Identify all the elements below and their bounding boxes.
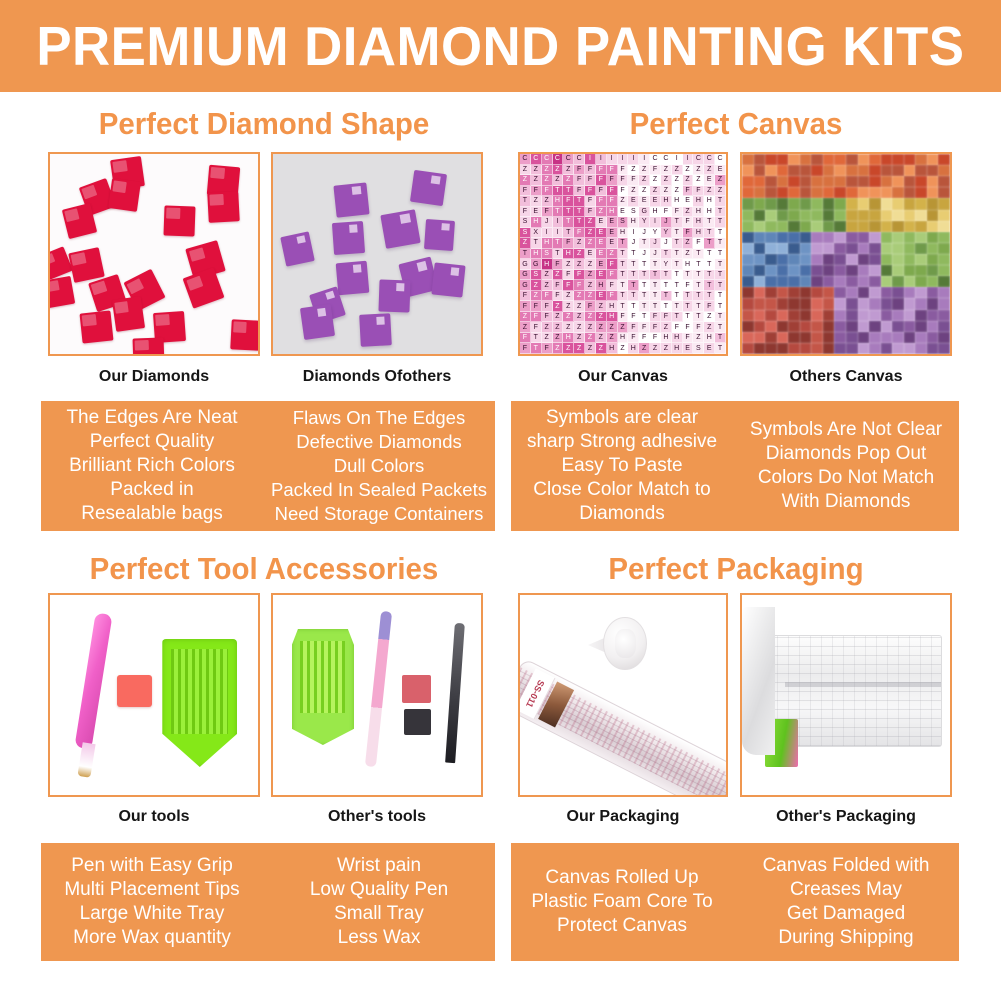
canvas-symbol-cell: S bbox=[542, 249, 553, 260]
canvas-symbol-cell: Z bbox=[574, 291, 585, 302]
canvas-symbol-cell: T bbox=[574, 196, 585, 207]
canvas-symbol-cell: T bbox=[715, 259, 726, 270]
mosaic-cell bbox=[904, 254, 916, 265]
canvas-symbol-cell: T bbox=[574, 217, 585, 228]
our-tools-photo bbox=[48, 593, 260, 797]
canvas-symbol-cell: T bbox=[563, 186, 574, 197]
canvas-symbol-cell: Z bbox=[607, 333, 618, 344]
panel-line: During Shipping bbox=[778, 926, 913, 950]
mosaic-cell bbox=[892, 310, 904, 321]
mosaic-cell bbox=[846, 254, 858, 265]
canvas-symbol-cell: H bbox=[693, 196, 704, 207]
canvas-symbol-cell: E bbox=[683, 343, 694, 354]
mosaic-cell bbox=[800, 232, 812, 243]
mosaic-cell bbox=[904, 265, 916, 276]
canvas-symbol-cell: Z bbox=[661, 322, 672, 333]
canvas-symbol-cell: S bbox=[520, 217, 531, 228]
mosaic-cell bbox=[754, 221, 766, 232]
mosaic-cell bbox=[869, 165, 881, 176]
caption-others-canvas: Others Canvas bbox=[740, 368, 952, 386]
canvas-symbol-cell: E bbox=[596, 228, 607, 239]
mosaic-cell bbox=[915, 287, 927, 298]
mosaic-cell bbox=[742, 165, 754, 176]
canvas-symbol-cell: T bbox=[639, 312, 650, 323]
mosaic-cell bbox=[858, 187, 870, 198]
panel-other-packaging: Canvas Folded with Creases May Get Damag… bbox=[733, 843, 959, 961]
canvas-symbol-cell: F bbox=[531, 312, 542, 323]
mosaic-cell bbox=[869, 254, 881, 265]
canvas-symbol-cell: T bbox=[672, 238, 683, 249]
canvas-symbol-cell: I bbox=[596, 154, 607, 165]
panel-our-tools: Pen with Easy Grip Multi Placement Tips … bbox=[41, 843, 263, 961]
canvas-symbol-cell: H bbox=[628, 217, 639, 228]
panel-line: Dull Colors bbox=[334, 454, 424, 478]
canvas-symbol-cell: T bbox=[520, 196, 531, 207]
canvas-symbol-cell: H bbox=[672, 343, 683, 354]
canvas-symbol-cell: H bbox=[693, 217, 704, 228]
mosaic-cell bbox=[881, 210, 893, 221]
dark-wax-icon bbox=[404, 709, 431, 735]
panel-line: Close Color Match to bbox=[533, 478, 710, 502]
canvas-symbol-cell: Z bbox=[542, 196, 553, 207]
canvas-symbol-cell: H bbox=[542, 238, 553, 249]
mosaic-cell bbox=[742, 298, 754, 309]
mosaic-cell bbox=[754, 187, 766, 198]
canvas-symbol-cell: T bbox=[672, 228, 683, 239]
mosaic-cell bbox=[881, 276, 893, 287]
canvas-symbol-cell: T bbox=[563, 217, 574, 228]
page-title: PREMIUM DIAMOND PAINTING KITS bbox=[36, 14, 964, 78]
mosaic-cell bbox=[742, 321, 754, 332]
canvas-symbol-cell: F bbox=[639, 333, 650, 344]
canvas-symbol-cell: T bbox=[715, 207, 726, 218]
mosaic-cell bbox=[892, 287, 904, 298]
mosaic-cell bbox=[777, 343, 789, 354]
mosaic-cell bbox=[765, 221, 777, 232]
mosaic-cell bbox=[834, 232, 846, 243]
mosaic-cell bbox=[846, 321, 858, 332]
mosaic-cell bbox=[834, 321, 846, 332]
canvas-symbol-cell: T bbox=[693, 280, 704, 291]
mosaic-cell bbox=[904, 298, 916, 309]
mosaic-cell bbox=[777, 310, 789, 321]
mosaic-cell bbox=[881, 232, 893, 243]
canvas-symbol-cell: F bbox=[596, 196, 607, 207]
canvas-symbol-cell: F bbox=[520, 301, 531, 312]
canvas-symbol-cell: F bbox=[596, 165, 607, 176]
mosaic-cell bbox=[811, 232, 823, 243]
mosaic-cell bbox=[754, 265, 766, 276]
canvas-symbol-cell: Z bbox=[574, 333, 585, 344]
mosaic-cell bbox=[869, 232, 881, 243]
canvas-symbol-cell: T bbox=[563, 207, 574, 218]
canvas-symbol-cell: Z bbox=[585, 343, 596, 354]
canvas-symbol-cell: T bbox=[672, 291, 683, 302]
mosaic-cell bbox=[869, 198, 881, 209]
canvas-symbol-cell: F bbox=[574, 280, 585, 291]
mosaic-cell bbox=[915, 210, 927, 221]
canvas-symbol-cell: F bbox=[563, 196, 574, 207]
mosaic-cell bbox=[858, 165, 870, 176]
canvas-symbol-cell: T bbox=[704, 291, 715, 302]
section-title-diamond-shape: Perfect Diamond Shape bbox=[55, 106, 473, 142]
canvas-symbol-cell: Z bbox=[542, 270, 553, 281]
canvas-symbol-cell: E bbox=[596, 270, 607, 281]
canvas-symbol-cell: F bbox=[618, 186, 629, 197]
canvas-symbol-cell: F bbox=[520, 207, 531, 218]
mosaic-cell bbox=[858, 310, 870, 321]
mosaic-cell bbox=[858, 254, 870, 265]
canvas-symbol-cell: F bbox=[563, 270, 574, 281]
canvas-symbol-cell: T bbox=[704, 228, 715, 239]
mosaic-cell bbox=[788, 343, 800, 354]
mosaic-cell bbox=[869, 287, 881, 298]
mosaic-cell bbox=[927, 154, 939, 165]
symbol-grid-art: CCCCCCIIIIIICCIICCCZZZZZFFFFFZZFZZZZZEZZ… bbox=[520, 154, 726, 354]
canvas-symbol-cell: Z bbox=[574, 238, 585, 249]
canvas-symbol-cell: T bbox=[628, 301, 639, 312]
panel-line: With Diamonds bbox=[782, 490, 911, 514]
mosaic-cell bbox=[904, 165, 916, 176]
canvas-symbol-cell: F bbox=[542, 186, 553, 197]
mosaic-cell bbox=[742, 221, 754, 232]
mosaic-cell bbox=[811, 343, 823, 354]
section-title-tool-accessories: Perfect Tool Accessories bbox=[55, 551, 473, 587]
canvas-symbol-cell: F bbox=[596, 186, 607, 197]
canvas-symbol-cell: H bbox=[661, 196, 672, 207]
canvas-symbol-cell: T bbox=[704, 270, 715, 281]
canvas-symbol-cell: G bbox=[639, 207, 650, 218]
mosaic-cell bbox=[788, 287, 800, 298]
mosaic-cell bbox=[846, 232, 858, 243]
canvas-symbol-cell: F bbox=[553, 259, 564, 270]
canvas-symbol-cell: F bbox=[683, 280, 694, 291]
canvas-symbol-cell: E bbox=[628, 196, 639, 207]
panel-line: Pen with Easy Grip bbox=[71, 854, 233, 878]
canvas-symbol-cell: T bbox=[693, 270, 704, 281]
canvas-symbol-cell: Z bbox=[628, 165, 639, 176]
canvas-symbol-cell: T bbox=[715, 343, 726, 354]
canvas-symbol-cell: Z bbox=[531, 280, 542, 291]
panel-line: Small Tray bbox=[334, 902, 424, 926]
mosaic-cell bbox=[892, 198, 904, 209]
mosaic-cell bbox=[938, 265, 950, 276]
canvas-symbol-cell: E bbox=[607, 228, 618, 239]
mosaic-cell bbox=[800, 243, 812, 254]
canvas-symbol-cell: Z bbox=[520, 165, 531, 176]
mosaic-cell bbox=[858, 287, 870, 298]
mosaic-cell bbox=[788, 210, 800, 221]
mosaic-cell bbox=[927, 343, 939, 354]
mosaic-cell bbox=[869, 265, 881, 276]
canvas-symbol-cell: T bbox=[704, 238, 715, 249]
mosaic-cell bbox=[777, 198, 789, 209]
mosaic-cell bbox=[742, 310, 754, 321]
mosaic-cell bbox=[811, 243, 823, 254]
panel-other-tools: Wrist pain Low Quality Pen Small Tray Le… bbox=[263, 843, 495, 961]
mosaic-cell bbox=[754, 310, 766, 321]
mosaic-cell bbox=[892, 165, 904, 176]
mosaic-cell bbox=[834, 276, 846, 287]
mosaic-cell bbox=[811, 276, 823, 287]
canvas-symbol-cell: Z bbox=[585, 217, 596, 228]
others-canvas-mosaic-art bbox=[742, 154, 950, 354]
mosaic-cell bbox=[788, 321, 800, 332]
mosaic-cell bbox=[846, 332, 858, 343]
mosaic-cell bbox=[765, 321, 777, 332]
canvas-symbol-cell: G bbox=[520, 270, 531, 281]
mosaic-cell bbox=[915, 154, 927, 165]
canvas-symbol-cell: E bbox=[596, 249, 607, 260]
mosaic-cell bbox=[904, 321, 916, 332]
canvas-symbol-cell: J bbox=[628, 238, 639, 249]
canvas-symbol-cell: F bbox=[574, 270, 585, 281]
canvas-symbol-cell: T bbox=[553, 186, 564, 197]
mosaic-cell bbox=[834, 210, 846, 221]
canvas-symbol-cell: F bbox=[563, 238, 574, 249]
panel-our-diamonds: The Edges Are Neat Perfect Quality Brill… bbox=[41, 401, 263, 531]
canvas-symbol-cell: Z bbox=[520, 238, 531, 249]
mosaic-cell bbox=[765, 232, 777, 243]
canvas-symbol-cell: T bbox=[639, 270, 650, 281]
canvas-symbol-cell: Z bbox=[596, 301, 607, 312]
mosaic-cell bbox=[834, 198, 846, 209]
mosaic-cell bbox=[904, 221, 916, 232]
mosaic-cell bbox=[742, 287, 754, 298]
canvas-symbol-cell: Z bbox=[531, 196, 542, 207]
mosaic-cell bbox=[788, 310, 800, 321]
canvas-symbol-cell: Z bbox=[704, 322, 715, 333]
panel-line: Flaws On The Edges bbox=[293, 406, 465, 430]
panel-line: Colors Do Not Match bbox=[758, 466, 934, 490]
mosaic-cell bbox=[904, 276, 916, 287]
mosaic-cell bbox=[915, 321, 927, 332]
mosaic-cell bbox=[823, 343, 835, 354]
canvas-symbol-cell: T bbox=[715, 333, 726, 344]
wax-square-icon bbox=[117, 675, 152, 707]
canvas-symbol-cell: I bbox=[639, 154, 650, 165]
canvas-symbol-cell: Z bbox=[585, 291, 596, 302]
canvas-symbol-cell: T bbox=[704, 249, 715, 260]
canvas-symbol-cell: I bbox=[607, 154, 618, 165]
mosaic-cell bbox=[869, 298, 881, 309]
canvas-symbol-cell: F bbox=[607, 196, 618, 207]
mosaic-cell bbox=[765, 287, 777, 298]
canvas-symbol-cell: T bbox=[672, 249, 683, 260]
canvas-symbol-cell: E bbox=[596, 291, 607, 302]
mosaic-cell bbox=[834, 176, 846, 187]
mosaic-cell bbox=[927, 165, 939, 176]
mosaic-cell bbox=[788, 298, 800, 309]
canvas-symbol-cell: T bbox=[531, 343, 542, 354]
canvas-symbol-cell: Z bbox=[683, 165, 694, 176]
canvas-symbol-cell: F bbox=[618, 165, 629, 176]
canvas-symbol-cell: Z bbox=[553, 322, 564, 333]
mosaic-cell bbox=[904, 243, 916, 254]
mosaic-cell bbox=[858, 298, 870, 309]
canvas-symbol-cell: Z bbox=[585, 280, 596, 291]
canvas-symbol-cell: S bbox=[520, 228, 531, 239]
mosaic-cell bbox=[823, 332, 835, 343]
mosaic-cell bbox=[742, 198, 754, 209]
canvas-symbol-cell: X bbox=[531, 228, 542, 239]
panel-line: Perfect Quality bbox=[90, 430, 215, 454]
mosaic-cell bbox=[938, 343, 950, 354]
canvas-symbol-cell: S bbox=[628, 207, 639, 218]
canvas-symbol-cell: T bbox=[683, 291, 694, 302]
mosaic-cell bbox=[881, 154, 893, 165]
mosaic-cell bbox=[788, 198, 800, 209]
mosaic-cell bbox=[811, 321, 823, 332]
mosaic-cell bbox=[742, 176, 754, 187]
canvas-symbol-cell: H bbox=[672, 196, 683, 207]
red-diamonds-photo bbox=[48, 152, 260, 356]
canvas-symbol-cell: F bbox=[672, 322, 683, 333]
mosaic-cell bbox=[834, 310, 846, 321]
mosaic-cell bbox=[892, 232, 904, 243]
canvas-symbol-cell: T bbox=[704, 280, 715, 291]
canvas-symbol-cell: C bbox=[574, 154, 585, 165]
canvas-symbol-cell: Z bbox=[531, 165, 542, 176]
mosaic-cell bbox=[915, 243, 927, 254]
panel-line: Packed In Sealed Packets bbox=[271, 478, 487, 502]
panel-line: Need Storage Containers bbox=[275, 502, 484, 526]
canvas-symbol-cell: F bbox=[585, 196, 596, 207]
symbol-canvas-photo: CCCCCCIIIIIICCIICCCZZZZZFFFFFZZFZZZZZEZZ… bbox=[518, 152, 728, 356]
canvas-symbol-cell: Z bbox=[585, 312, 596, 323]
panel-line: Creases May bbox=[790, 878, 902, 902]
section-title-packaging: Perfect Packaging bbox=[527, 551, 945, 587]
mosaic-cell bbox=[754, 154, 766, 165]
canvas-symbol-cell: Z bbox=[585, 322, 596, 333]
panel-line: Wrist pain bbox=[337, 854, 421, 878]
canvas-symbol-cell: T bbox=[661, 249, 672, 260]
mosaic-cell bbox=[881, 221, 893, 232]
panel-line: More Wax quantity bbox=[73, 926, 231, 950]
mosaic-cell bbox=[834, 243, 846, 254]
mosaic-cell bbox=[811, 210, 823, 221]
canvas-symbol-cell: C bbox=[563, 154, 574, 165]
canvas-symbol-cell: S bbox=[531, 270, 542, 281]
mosaic-cell bbox=[938, 221, 950, 232]
panel-diamonds-ofothers: Flaws On The Edges Defective Diamonds Du… bbox=[263, 401, 495, 531]
canvas-symbol-cell: F bbox=[531, 301, 542, 312]
mosaic-cell bbox=[858, 210, 870, 221]
canvas-symbol-cell: H bbox=[704, 196, 715, 207]
canvas-symbol-cell: F bbox=[585, 207, 596, 218]
mosaic-cell bbox=[823, 287, 835, 298]
mosaic-cell bbox=[915, 254, 927, 265]
mosaic-cell bbox=[927, 254, 939, 265]
canvas-symbol-cell: C bbox=[531, 154, 542, 165]
canvas-symbol-cell: F bbox=[585, 165, 596, 176]
mosaic-cell bbox=[765, 176, 777, 187]
mosaic-cell bbox=[834, 287, 846, 298]
canvas-symbol-cell: T bbox=[639, 301, 650, 312]
mosaic-cell bbox=[823, 232, 835, 243]
canvas-symbol-cell: T bbox=[693, 301, 704, 312]
tube-cap-icon bbox=[588, 609, 658, 677]
canvas-symbol-cell: T bbox=[553, 207, 564, 218]
canvas-symbol-cell: E bbox=[704, 175, 715, 186]
canvas-symbol-cell: J bbox=[650, 249, 661, 260]
caption-our-packaging: Our Packaging bbox=[518, 808, 728, 826]
mosaic-cell bbox=[823, 165, 835, 176]
canvas-symbol-cell: E bbox=[531, 207, 542, 218]
mosaic-cell bbox=[938, 310, 950, 321]
canvas-symbol-cell: Y bbox=[661, 259, 672, 270]
mosaic-cell bbox=[742, 343, 754, 354]
mosaic-cell bbox=[858, 243, 870, 254]
mosaic-cell bbox=[915, 276, 927, 287]
canvas-symbol-cell: Z bbox=[618, 196, 629, 207]
canvas-symbol-cell: Z bbox=[574, 343, 585, 354]
mosaic-cell bbox=[927, 298, 939, 309]
mosaic-cell bbox=[846, 187, 858, 198]
canvas-symbol-cell: F bbox=[585, 186, 596, 197]
mosaic-cell bbox=[765, 154, 777, 165]
canvas-symbol-cell: H bbox=[672, 333, 683, 344]
canvas-symbol-cell: F bbox=[542, 343, 553, 354]
canvas-symbol-cell: T bbox=[639, 280, 650, 291]
canvas-symbol-cell: F bbox=[683, 333, 694, 344]
mosaic-cell bbox=[777, 243, 789, 254]
canvas-symbol-cell: Z bbox=[661, 175, 672, 186]
mosaic-cell bbox=[858, 176, 870, 187]
mosaic-cell bbox=[892, 210, 904, 221]
mosaic-cell bbox=[754, 243, 766, 254]
canvas-symbol-cell: T bbox=[650, 280, 661, 291]
mosaic-cell bbox=[892, 243, 904, 254]
canvas-symbol-cell: T bbox=[672, 270, 683, 281]
purple-drills-art bbox=[273, 154, 481, 354]
canvas-symbol-cell: Z bbox=[672, 165, 683, 176]
canvas-symbol-cell: T bbox=[531, 238, 542, 249]
mosaic-cell bbox=[915, 221, 927, 232]
tweezer-icon bbox=[445, 623, 465, 763]
canvas-symbol-cell: Z bbox=[693, 165, 704, 176]
mosaic-cell bbox=[800, 298, 812, 309]
canvas-symbol-cell: F bbox=[574, 175, 585, 186]
canvas-symbol-cell: T bbox=[628, 259, 639, 270]
mosaic-cell bbox=[777, 176, 789, 187]
mosaic-cell bbox=[938, 165, 950, 176]
other-packaging-art bbox=[742, 595, 950, 795]
mosaic-cell bbox=[834, 298, 846, 309]
mosaic-cell bbox=[846, 243, 858, 254]
mosaic-cell bbox=[811, 198, 823, 209]
canvas-symbol-cell: Z bbox=[585, 228, 596, 239]
canvas-symbol-cell: Z bbox=[520, 322, 531, 333]
mosaic-cell bbox=[938, 154, 950, 165]
canvas-symbol-cell: T bbox=[672, 312, 683, 323]
canvas-symbol-cell: H bbox=[693, 228, 704, 239]
canvas-symbol-cell: T bbox=[683, 301, 694, 312]
section-title-canvas: Perfect Canvas bbox=[527, 106, 945, 142]
mosaic-cell bbox=[881, 310, 893, 321]
canvas-symbol-cell: E bbox=[596, 217, 607, 228]
canvas-symbol-cell: T bbox=[693, 291, 704, 302]
mosaic-cell bbox=[823, 198, 835, 209]
canvas-symbol-cell: S bbox=[618, 217, 629, 228]
canvas-symbol-cell: Z bbox=[661, 343, 672, 354]
canvas-symbol-cell: Z bbox=[553, 312, 564, 323]
canvas-symbol-cell: Y bbox=[661, 228, 672, 239]
caption-our-diamonds: Our Diamonds bbox=[48, 368, 260, 386]
canvas-symbol-cell: F bbox=[650, 333, 661, 344]
canvas-symbol-cell: Z bbox=[520, 175, 531, 186]
mosaic-cell bbox=[927, 221, 939, 232]
